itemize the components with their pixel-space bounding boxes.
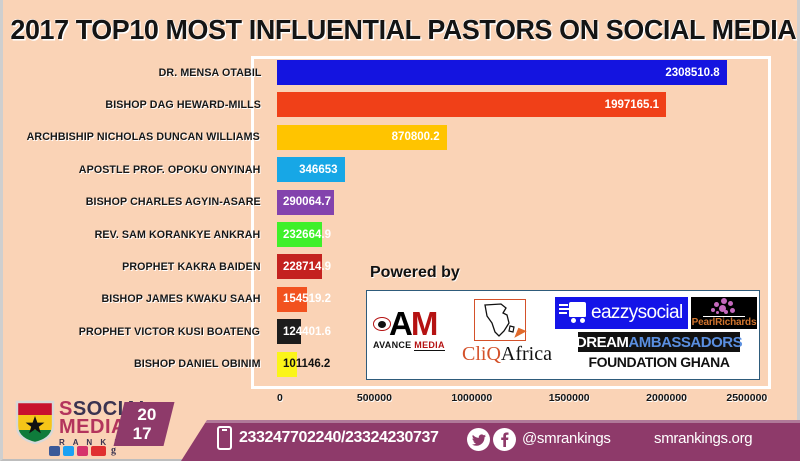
chart-bar-value: 2308510.8 [665, 67, 726, 79]
sponsor-logo-box: A M AVANCE MEDIA CliQAfrica [366, 290, 760, 380]
chart-category-text: BISHOP DANIEL OBINIM [134, 358, 261, 370]
avance-media-logo: A M AVANCE MEDIA [373, 305, 455, 350]
cliq-word-cliq: CliQ [462, 343, 501, 365]
twitter-bird-glyph [472, 434, 486, 446]
avance-a-letter: A [389, 309, 411, 339]
year-badge: 20 17 [114, 402, 175, 446]
eye-icon [373, 317, 391, 331]
footer-website: smrankings.org [654, 430, 752, 447]
chart-bar: 154519.2 [277, 287, 307, 312]
chart-x-tick: 0 [277, 392, 283, 404]
chart-category-text: PROPHET VICTOR KUSI BOATENG [79, 326, 260, 338]
pearlrichards-logo: PearlRichards [691, 297, 757, 329]
chart-category-label: BISHOP DANIEL OBINIM [3, 352, 263, 377]
chart-bar-value: 290064.7 [283, 196, 331, 208]
chart-bar-value: 870800.2 [392, 131, 447, 143]
pearlrichards-text: PearlRichards [691, 317, 757, 328]
chart-bar-row: 346653 [277, 157, 764, 182]
chart-bar-value: 228714.9 [283, 261, 331, 273]
chart-bar-value: 346653 [299, 164, 344, 176]
footer-phone: 233247702240/23324230737 [239, 429, 439, 447]
avance-caption-media: MEDIA [414, 340, 445, 351]
chart-x-tick: 500000 [357, 392, 392, 404]
chart-bar-value: 1997165.1 [605, 99, 666, 111]
chart-category-text: DR. MENSA OTABIL [158, 67, 261, 79]
googleplus-mini-icon[interactable]: g [109, 446, 118, 456]
chart-category-label: BISHOP CHARLES AGYIN-ASARE [3, 190, 263, 215]
chart-category-text: BISHOP JAMES KWAKU SAAH [101, 293, 260, 305]
chart-bar-value: 124401.6 [283, 326, 331, 338]
chart-bar-row: 232664.9 [277, 222, 764, 247]
chart-bar: 870800.2 [277, 125, 447, 150]
chart-bar-value: 154519.2 [283, 293, 331, 305]
chart-category-text: PROPHET KAKRA BAIDEN [122, 261, 260, 273]
chart-category-label: PROPHET VICTOR KUSI BOATENG [3, 319, 263, 344]
facebook-mini-icon[interactable] [49, 446, 60, 456]
chart-category-label: DR. MENSA OTABIL [3, 60, 263, 85]
chart-category-labels: DR. MENSA OTABILBISHOP DAG HEWARD-MILLSA… [3, 60, 269, 385]
dream-word: DREAM [576, 334, 629, 351]
phone-icon [217, 426, 232, 450]
chart-category-label: REV. SAM KORANKYE ANKRAH [3, 222, 263, 247]
chart-category-label: PROPHET KAKRA BAIDEN [3, 254, 263, 279]
page-title: 2017 TOP10 MOST INFLUENTIAL PASTORS ON S… [3, 8, 800, 52]
avance-m-letter: M [411, 309, 437, 339]
social-media-rankings-logo: SSOCIAL MEDIA R A N K I N G S 20 17 g [11, 398, 181, 456]
chart-x-tick: 2000000 [646, 392, 687, 404]
chart-x-axis: 05000001000000150000020000002500000 [277, 392, 777, 410]
chart-category-text: BISHOP DAG HEWARD-MILLS [105, 99, 261, 111]
eazzysocial-logo: eazzysocial [555, 297, 688, 329]
twitter-mini-icon[interactable] [63, 446, 74, 456]
twitter-icon[interactable] [467, 428, 490, 451]
chart-bar-row: 2308510.8 [277, 60, 764, 85]
instagram-mini-icon[interactable] [77, 446, 88, 456]
powered-by-label: Powered by [370, 264, 460, 282]
year-bottom: 17 [132, 424, 151, 443]
year-top: 20 [137, 405, 156, 424]
sponsor-logos-right: eazzysocial PearlRichards DREAMAMBASSADO… [553, 291, 759, 379]
chart-bar: 101146.2 [277, 352, 297, 377]
footer-handle: @smrankings [522, 430, 611, 447]
chart-bar-value: 101146.2 [283, 358, 330, 370]
chart-x-tick: 1500000 [549, 392, 590, 404]
cliq-word-africa: Africa [501, 343, 552, 365]
chart-category-label: BISHOP JAMES KWAKU SAAH [3, 287, 263, 312]
chart-category-text: BISHOP CHARLES AGYIN-ASARE [85, 196, 260, 208]
chart-bar: 2308510.8 [277, 60, 727, 85]
chart-bar-row: 290064.7 [277, 190, 764, 215]
chart-category-text: ARCHBISHIP NICHOLAS DUNCAN WILLIAMS [26, 131, 259, 143]
flower-icon [711, 298, 737, 316]
ghana-shield-icon [15, 400, 55, 444]
chart-x-tick: 2500000 [726, 392, 767, 404]
sponsor-logos-left: A M AVANCE MEDIA CliQAfrica [367, 291, 553, 379]
chart-x-tick: 1000000 [451, 392, 492, 404]
chart-category-label: ARCHBISHIP NICHOLAS DUNCAN WILLIAMS [3, 125, 263, 150]
chart-bar: 290064.7 [277, 190, 334, 215]
title-text: 2017 TOP10 MOST INFLUENTIAL PASTORS ON S… [10, 14, 796, 46]
chart-bar-row: 870800.2 [277, 125, 764, 150]
facebook-f-glyph [500, 432, 509, 447]
chart-bar: 346653 [277, 157, 345, 182]
ambassadors-word: AMBASSADORS [628, 334, 742, 351]
foundation-ghana-text: FOUNDATION GHANA [578, 354, 740, 370]
brand-social-icons: g [49, 446, 118, 456]
chart-bar: 232664.9 [277, 222, 322, 247]
chart-bar-row: 228714.9 [277, 254, 764, 279]
chart-category-text: APOSTLE PROF. OPOKU ONYINAH [79, 164, 261, 176]
avance-caption-avance: AVANCE [373, 340, 414, 350]
chart-category-text: REV. SAM KORANKYE ANKRAH [95, 229, 261, 241]
chart-bar: 124401.6 [277, 319, 301, 344]
chart-bar: 228714.9 [277, 254, 322, 279]
eazzysocial-text: eazzysocial [591, 302, 683, 324]
chart-category-label: BISHOP DAG HEWARD-MILLS [3, 92, 263, 117]
cliqafrica-logo: CliQAfrica [462, 299, 550, 365]
chart-bar-row: 1997165.1 [277, 92, 764, 117]
dreamambassadors-logo: DREAMAMBASSADORS [578, 332, 740, 352]
chart-category-label: APOSTLE PROF. OPOKU ONYINAH [3, 157, 263, 182]
chart-bar-value: 232664.9 [283, 229, 331, 241]
youtube-mini-icon[interactable] [91, 446, 106, 456]
facebook-icon[interactable] [493, 428, 516, 451]
chart-bar: 1997165.1 [277, 92, 666, 117]
shopping-cart-icon [559, 301, 589, 325]
